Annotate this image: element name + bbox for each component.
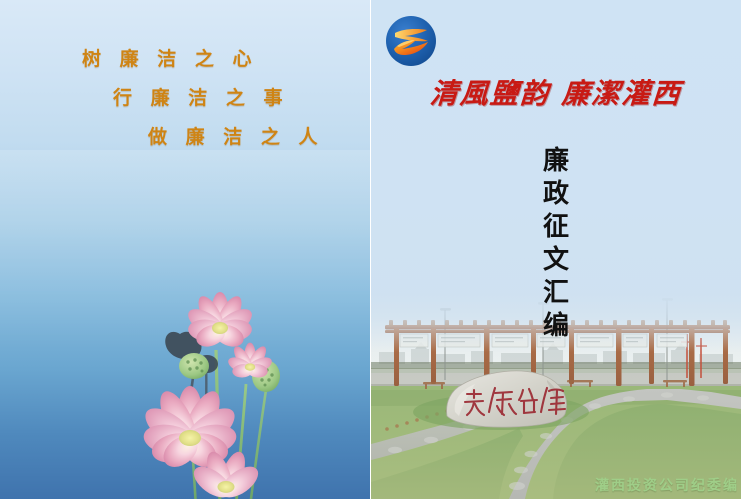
back-cover-panel: 树 廉 洁 之 心 行 廉 洁 之 事 做 廉 洁 之 人 <box>0 0 370 499</box>
vertical-title-char-3: 征 <box>543 214 569 240</box>
vertical-title-char-1: 廉 <box>543 148 569 174</box>
motto-line-1: 树 廉 洁 之 心 <box>82 50 370 69</box>
vertical-title-char-4: 文 <box>543 247 569 273</box>
vertical-title-char-2: 政 <box>543 181 569 207</box>
vertical-title-char-5: 汇 <box>543 280 569 306</box>
front-cover-title: 清風鹽韵 廉潔灌西 <box>371 72 741 112</box>
vertical-title-char-6: 编 <box>543 313 569 339</box>
lotus-illustration <box>108 292 293 499</box>
cover-spread: 树 廉 洁 之 心 行 廉 洁 之 事 做 廉 洁 之 人 <box>0 0 741 499</box>
motto-line-2: 行 廉 洁 之 事 <box>113 89 370 108</box>
motto-line-3: 做 廉 洁 之 人 <box>148 128 370 147</box>
front-cover-panel: 清風鹽韵 廉潔灌西 廉 政 征 文 汇 编 灌西投资公司纪委编 <box>371 0 741 499</box>
back-cover-motto: 树 廉 洁 之 心 行 廉 洁 之 事 做 廉 洁 之 人 <box>0 50 370 147</box>
vertical-title: 廉 政 征 文 汇 编 <box>371 148 741 346</box>
company-logo <box>383 13 439 69</box>
publisher-credit: 灌西投资公司纪委编 <box>595 475 739 495</box>
